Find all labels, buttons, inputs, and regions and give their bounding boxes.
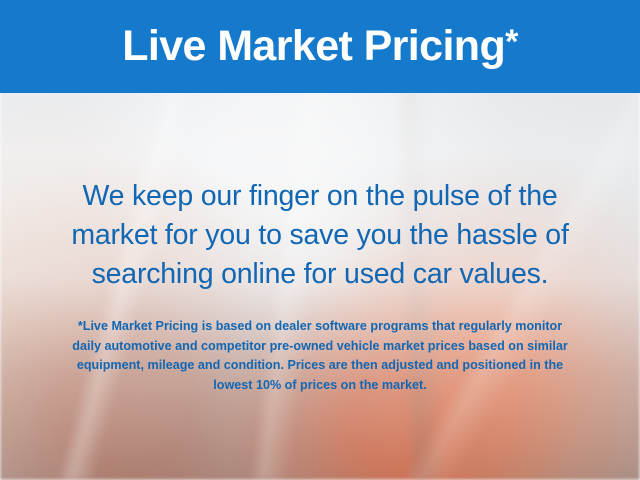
- headline: We keep our finger on the pulse of the m…: [0, 177, 640, 294]
- disclaimer: *Live Market Pricing is based on dealer …: [0, 317, 640, 395]
- disclaimer-line-1: *Live Market Pricing is based on dealer …: [18, 317, 622, 337]
- page-title-asterisk: *: [505, 23, 518, 61]
- page-title: Live Market Pricing*: [122, 25, 518, 68]
- header-bar: Live Market Pricing*: [0, 0, 640, 93]
- headline-line-3: searching online for used car values.: [24, 255, 616, 294]
- headline-line-1: We keep our finger on the pulse of the: [24, 177, 616, 216]
- disclaimer-line-4: lowest 10% of prices on the market.: [18, 376, 622, 396]
- disclaimer-line-2: daily automotive and competitor pre-owne…: [18, 337, 622, 357]
- disclaimer-line-3: equipment, mileage and condition. Prices…: [18, 356, 622, 376]
- live-market-pricing-banner: Live Market Pricing* We keep our finger …: [0, 0, 640, 480]
- headline-line-2: market for you to save you the hassle of: [24, 216, 616, 255]
- page-title-text: Live Market Pricing: [122, 22, 505, 70]
